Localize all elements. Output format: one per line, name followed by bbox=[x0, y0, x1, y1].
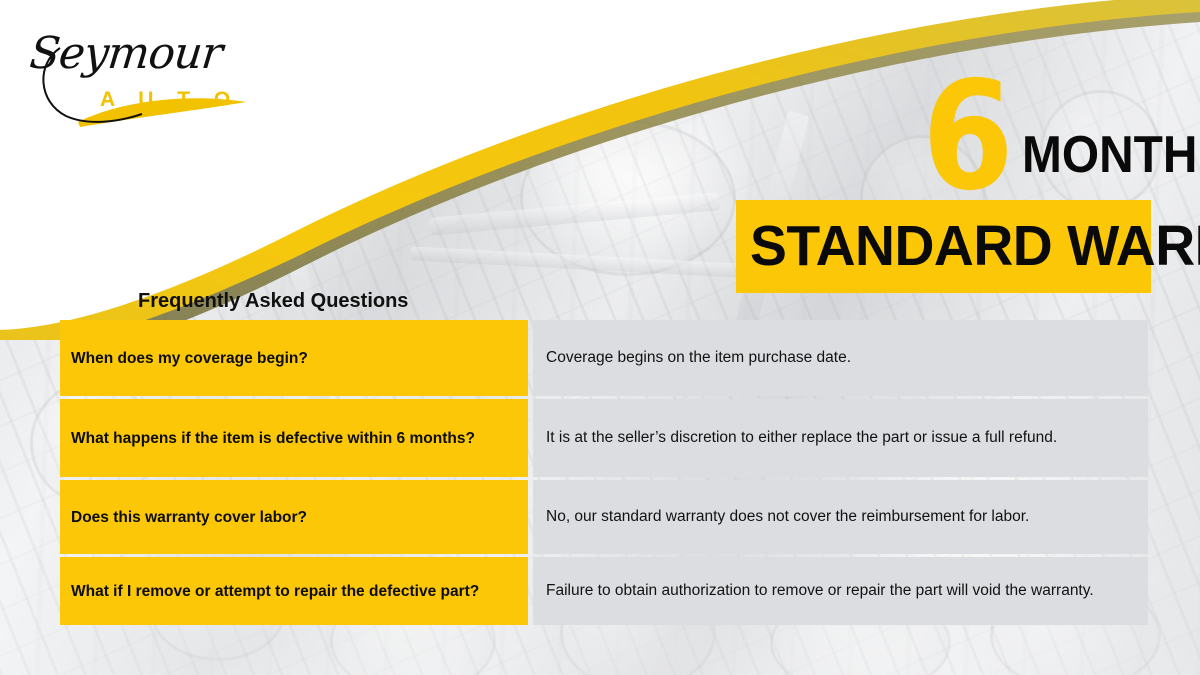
table-row: What happens if the item is defective wi… bbox=[60, 399, 1148, 477]
faq-answer-text: It is at the seller’s discretion to eith… bbox=[546, 427, 1135, 449]
table-row: Does this warranty cover labor? No, our … bbox=[60, 480, 1148, 554]
warranty-duration-unit: MONTH bbox=[1022, 129, 1197, 181]
table-row: What if I remove or attempt to repair th… bbox=[60, 557, 1148, 625]
faq-answer-cell: It is at the seller’s discretion to eith… bbox=[533, 399, 1148, 477]
warranty-slide: Seymour A U T O 6 MONTH STANDARD WARRANT… bbox=[0, 0, 1200, 675]
warranty-duration-number: 6 bbox=[922, 62, 1010, 212]
faq-table: When does my coverage begin? Coverage be… bbox=[60, 320, 1148, 625]
faq-answer-cell: Coverage begins on the item purchase dat… bbox=[533, 320, 1148, 396]
faq-question-cell: Does this warranty cover labor? bbox=[60, 480, 528, 554]
faq-question-cell: What happens if the item is defective wi… bbox=[60, 399, 528, 477]
warranty-title-band: STANDARD WARRANTY bbox=[736, 200, 1151, 293]
warranty-title-text: STANDARD WARRANTY bbox=[750, 215, 1128, 277]
faq-answer-text: Coverage begins on the item purchase dat… bbox=[546, 347, 1135, 369]
seymour-auto-logo: Seymour A U T O bbox=[22, 22, 252, 132]
faq-answer-cell: No, our standard warranty does not cover… bbox=[533, 480, 1148, 554]
faq-question-cell: What if I remove or attempt to repair th… bbox=[60, 557, 528, 625]
faq-heading: Frequently Asked Questions bbox=[138, 288, 408, 314]
faq-answer-cell: Failure to obtain authorization to remov… bbox=[533, 557, 1148, 625]
faq-question-cell: When does my coverage begin? bbox=[60, 320, 528, 396]
faq-answer-text: Failure to obtain authorization to remov… bbox=[546, 580, 1135, 602]
logo-swoosh-icon bbox=[22, 22, 252, 132]
faq-answer-text: No, our standard warranty does not cover… bbox=[546, 506, 1135, 528]
table-row: When does my coverage begin? Coverage be… bbox=[60, 320, 1148, 396]
